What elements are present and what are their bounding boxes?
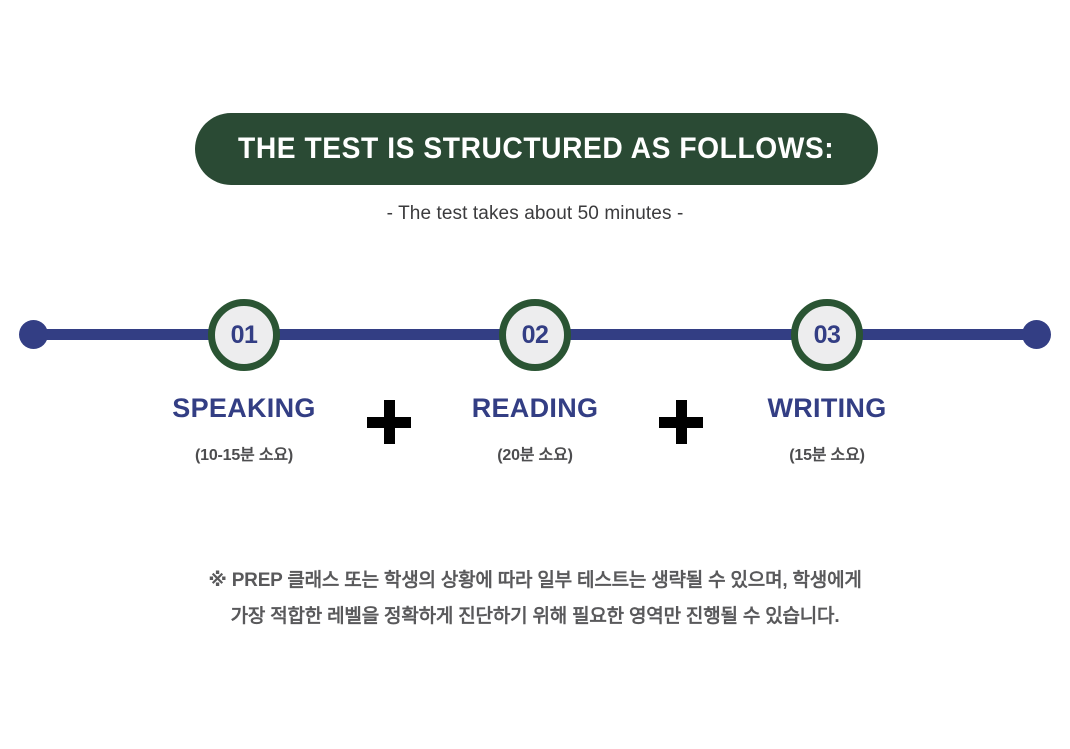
timeline-end-dot-icon [1022, 320, 1051, 349]
timeline-node-03: 03 [791, 299, 863, 371]
footnote-line-2: 가장 적합한 레벨을 정확하게 진단하기 위해 필요한 영역만 진행될 수 있습… [0, 599, 1070, 635]
stage-name: SPEAKING [114, 395, 374, 422]
stage-reading: READING (20분 소요) [405, 395, 665, 465]
stage-duration: (20분 소요) [405, 441, 665, 465]
subtitle-duration-note: - The test takes about 50 minutes - [0, 203, 1070, 225]
stage-labels: SPEAKING (10-15분 소요) READING (20분 소요) WR… [0, 395, 1070, 490]
footnote-line-1: ※ PREP 클래스 또는 학생의 상황에 따라 일부 테스트는 생략될 수 있… [0, 563, 1070, 599]
timeline-node-number: 01 [231, 323, 258, 348]
timeline-node-number: 03 [814, 323, 841, 348]
stage-name: READING [405, 395, 665, 422]
title-banner: THE TEST IS STRUCTURED AS FOLLOWS: [195, 113, 878, 185]
stage-speaking: SPEAKING (10-15분 소요) [114, 395, 374, 465]
stage-duration: (15분 소요) [697, 441, 957, 465]
timeline-node-02: 02 [499, 299, 571, 371]
timeline-node-01: 01 [208, 299, 280, 371]
footnote: ※ PREP 클래스 또는 학생의 상황에 따라 일부 테스트는 생략될 수 있… [0, 563, 1070, 635]
stage-duration: (10-15분 소요) [114, 441, 374, 465]
timeline: 01 02 03 [0, 299, 1070, 372]
timeline-start-dot-icon [19, 320, 48, 349]
stage-name: WRITING [697, 395, 957, 422]
page-title: THE TEST IS STRUCTURED AS FOLLOWS: [238, 132, 834, 166]
timeline-node-number: 02 [522, 323, 549, 348]
stage-writing: WRITING (15분 소요) [697, 395, 957, 465]
